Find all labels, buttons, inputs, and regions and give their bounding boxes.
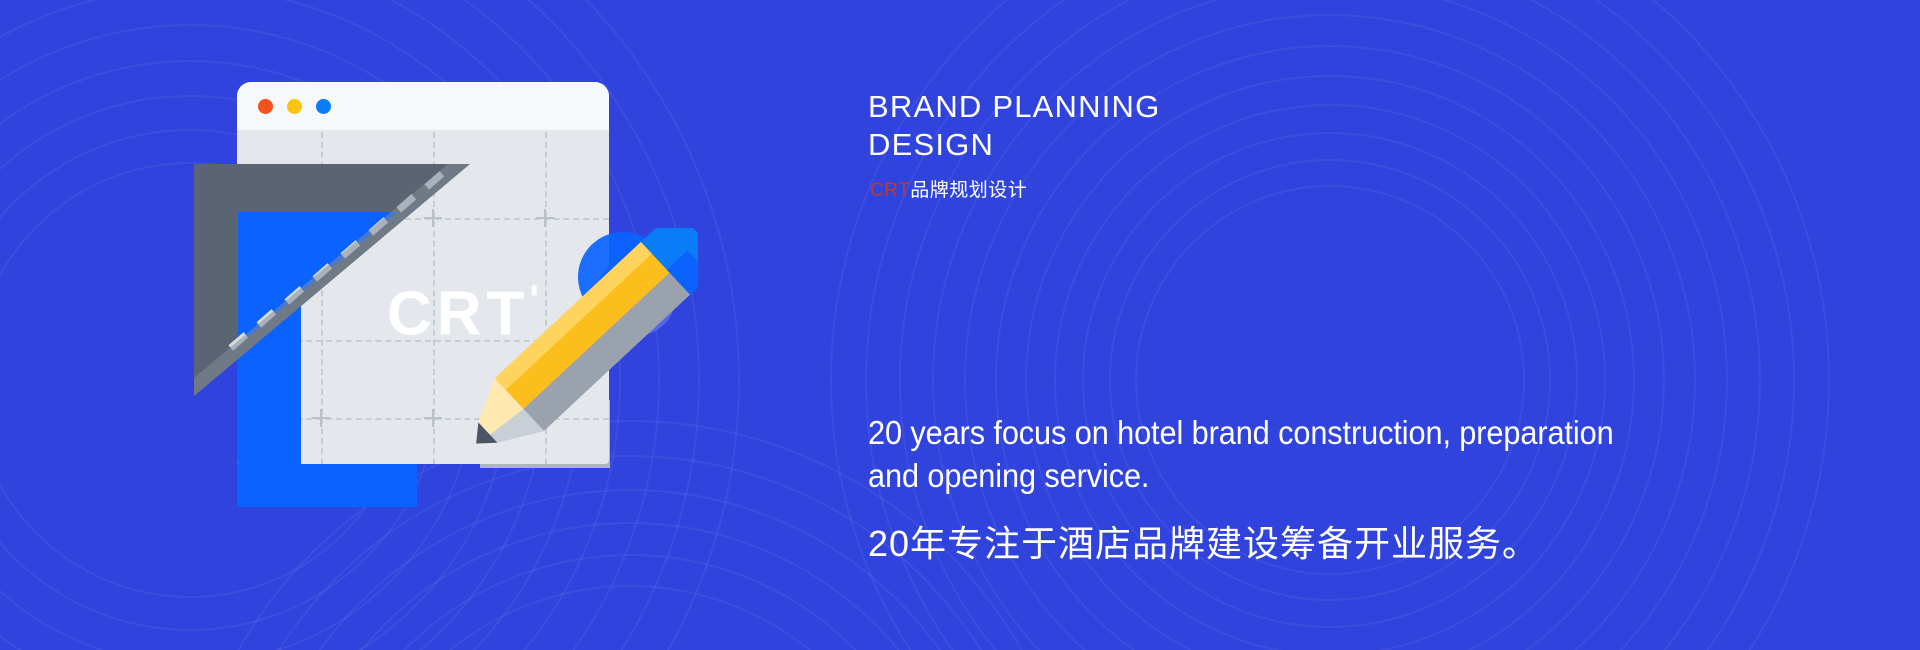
- subtitle-chinese-text: 品牌规划设计: [910, 180, 1027, 201]
- headline: BRAND PLANNING DESIGN: [868, 88, 1428, 164]
- triangle-ruler-icon: [180, 160, 490, 410]
- guide-crosshair-icon: [424, 409, 442, 427]
- brand-banner: CRT': [0, 0, 1920, 650]
- tagline-chinese: 20年专注于酒店品牌建设筹备开业服务。: [868, 515, 1539, 567]
- headline-line-2: DESIGN: [868, 127, 994, 162]
- subtitle-brand-text: CRT: [870, 180, 910, 201]
- tagline-english: 20 years focus on hotel brand constructi…: [868, 412, 1640, 498]
- guide-crosshair-icon: [312, 409, 330, 427]
- close-dot-icon: [258, 99, 273, 114]
- subtitle: CRT品牌规划设计: [870, 175, 1027, 202]
- minimize-dot-icon: [287, 99, 302, 114]
- brand-design-illustration: CRT': [180, 60, 700, 480]
- maximize-dot-icon: [316, 99, 331, 114]
- pencil-icon: [468, 228, 698, 498]
- banner-copy: BRAND PLANNING DESIGN CRT品牌规划设计 20 years…: [868, 0, 1868, 650]
- browser-titlebar: [237, 82, 609, 130]
- headline-line-1: BRAND PLANNING: [868, 89, 1160, 124]
- guide-crosshair-icon: [536, 209, 554, 227]
